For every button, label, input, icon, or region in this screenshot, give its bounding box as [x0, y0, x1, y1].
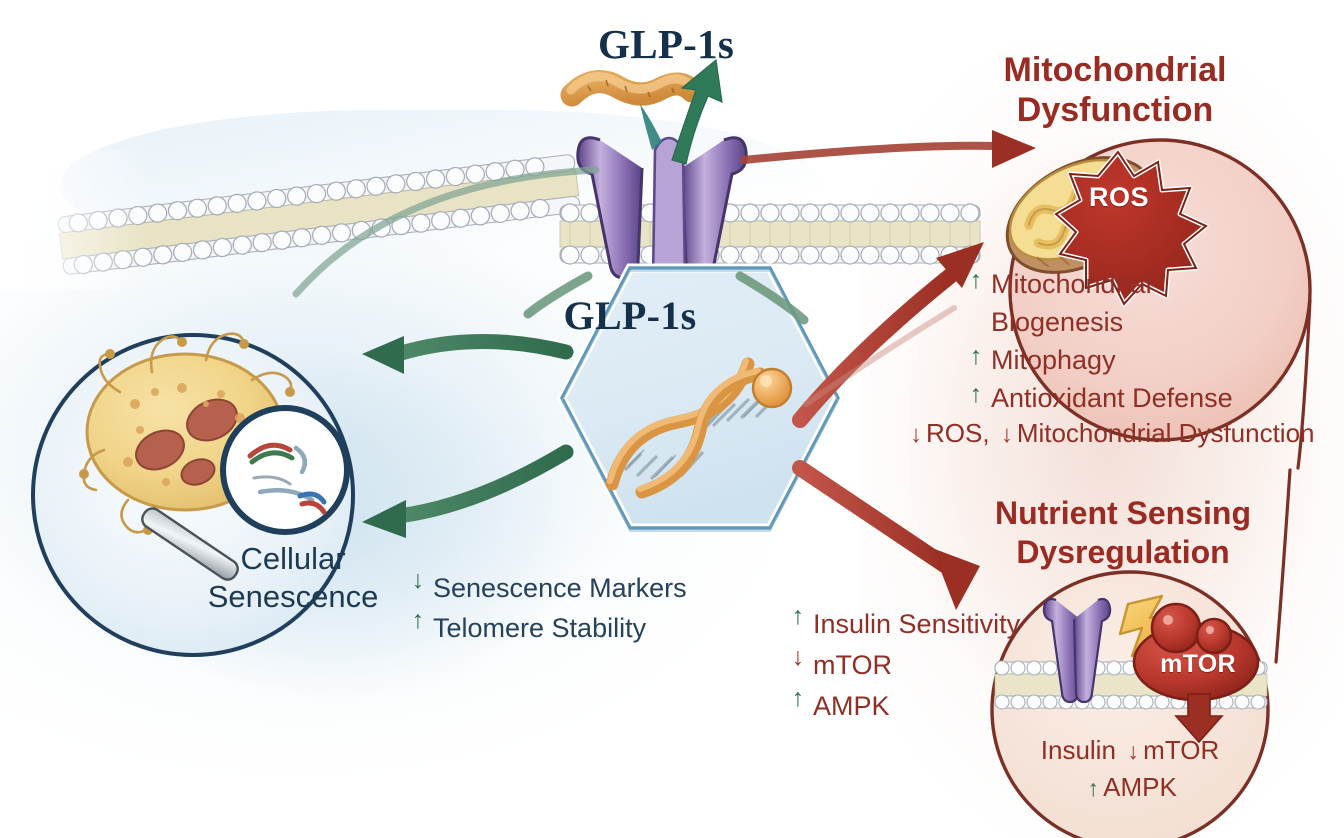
nutrient-sensing-heading: Nutrient Sensing Dysregulation [948, 494, 1298, 572]
arrow-up-icon: ↑ [408, 608, 428, 633]
list-item: ↑ Mitophagy [966, 344, 1344, 377]
effect-label: Insulin Sensitivity [808, 604, 1020, 645]
effect-label: AMPK [808, 686, 890, 727]
list-item: ↑ Telomere Stability [408, 608, 708, 648]
plasma-membrane [0, 150, 980, 290]
list-item: ↑ Insulin Sensitivity [788, 604, 1068, 645]
arrow-down-icon: ↓ [997, 423, 1017, 447]
peptide-molecule-icon [571, 77, 692, 97]
inset-term-ampk: AMPK [1103, 772, 1177, 803]
arrow-down-icon: ↓ [906, 423, 926, 447]
arrow-up-icon: ↑ [966, 382, 986, 407]
senescence-label-line2: Senescence [178, 578, 408, 616]
effect-label: mTOR [808, 645, 892, 686]
nutrient-effects-list: ↑ Insulin Sensitivity ↓ mTOR ↑ AMPK [788, 604, 1068, 727]
arrow-down-icon: ↓ [1123, 740, 1143, 763]
diagram-canvas: GLP-1s GLP-1s Mitochondrial Dysfunction … [0, 0, 1344, 838]
arrow-down-icon: ↓ [408, 568, 428, 593]
inset-term-insulin: Insulin [1041, 735, 1116, 766]
cellular-senescence-label: Cellular Senescence [178, 540, 408, 616]
inset-caption-line2: ↑AMPK [1000, 772, 1260, 803]
mito-heading-line2: Dysfunction [950, 90, 1280, 130]
mitochondrial-summary-line: ↓ROS, ↓Mitochondrial Dysfunction [906, 418, 1344, 449]
effect-label: Mitophagy [986, 344, 1116, 377]
effect-label: Antioxidant Defense [986, 382, 1233, 415]
ros-badge-label: ROS [1074, 182, 1164, 213]
inset-caption-line1: Insulin ↓mTOR [1000, 735, 1260, 766]
effect-label: Telomere Stability [428, 608, 646, 648]
list-item: ↑ Antioxidant Defense [966, 382, 1344, 415]
effect-label-line2: Biogenesis [966, 306, 1123, 339]
list-item-continuation: Biogenesis [966, 306, 1344, 339]
effect-label: Mitochondrial [986, 268, 1152, 301]
summary-term-dysfunction: Mitochondrial Dysfunction [1017, 418, 1315, 448]
list-item: ↑ Mitochondrial [966, 268, 1344, 301]
effect-label: Senescence Markers [428, 568, 687, 608]
arrow-up-icon: ↑ [966, 268, 986, 293]
arrow-up-icon: ↑ [788, 604, 808, 629]
list-item: ↑ AMPK [788, 686, 1068, 727]
inset-term-mtor: mTOR [1143, 735, 1219, 766]
arrow-up-icon: ↑ [1083, 777, 1103, 800]
list-item: ↓ Senescence Markers [408, 568, 708, 608]
senescence-label-line1: Cellular [178, 540, 408, 578]
arrow-up-icon: ↑ [788, 686, 808, 711]
nutrient-heading-line2: Dysregulation [948, 533, 1298, 572]
page-title-glp1s: GLP-1s [598, 20, 838, 68]
mitochondrial-dysfunction-heading: Mitochondrial Dysfunction [950, 50, 1280, 130]
nutrient-heading-line1: Nutrient Sensing [948, 494, 1298, 533]
senescence-effects-list: ↓ Senescence Markers ↑ Telomere Stabilit… [408, 568, 708, 648]
mitochondrial-effects-list: ↑ Mitochondrial Biogenesis ↑ Mitophagy ↑… [966, 268, 1344, 420]
arrow-down-icon: ↓ [788, 645, 808, 670]
arrow-up-icon: ↑ [966, 344, 986, 369]
mtor-protein-label: mTOR [1146, 650, 1250, 679]
summary-term-ros: ROS, [926, 418, 990, 448]
list-item: ↓ mTOR [788, 645, 1068, 686]
hexagon-label-glp1s: GLP-1s [520, 292, 740, 339]
mito-heading-line1: Mitochondrial [950, 50, 1280, 90]
